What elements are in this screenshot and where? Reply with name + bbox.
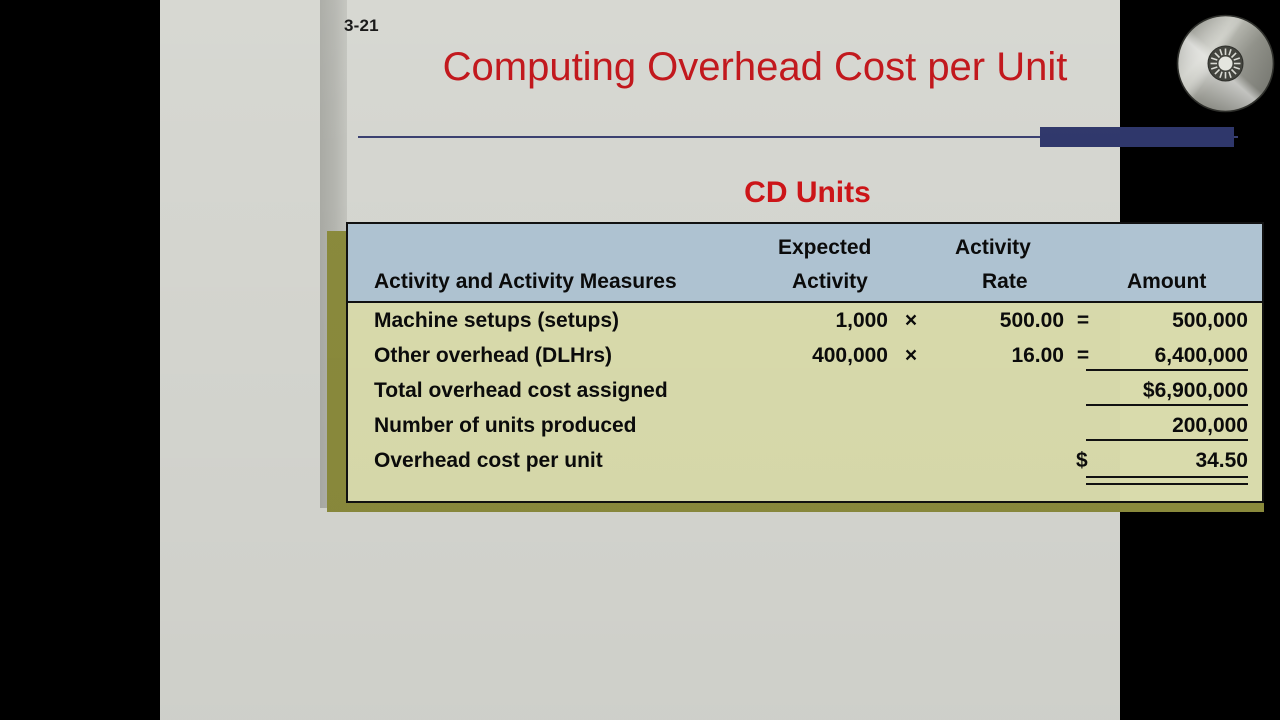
slide-stage: 3-21 Computing Overhead Cost per Unit <box>0 0 1280 720</box>
compact-disc-icon <box>1176 14 1275 113</box>
section-subtitle: CD Units <box>350 176 1265 210</box>
column-header-activity-measures: Activity and Activity Measures <box>374 270 677 294</box>
column-header-rate-line2: Rate <box>982 270 1028 294</box>
row-activity-rate: 16.00 <box>934 344 1064 368</box>
table-header-row: Activity and Activity Measures Expected … <box>348 224 1262 303</box>
subtotal-rule <box>1086 369 1248 371</box>
currency-symbol: $ <box>1076 449 1088 473</box>
slide-canvas: 3-21 Computing Overhead Cost per Unit <box>160 0 1120 720</box>
final-double-rule <box>1086 476 1248 485</box>
multiply-operator-icon: × <box>900 309 922 333</box>
letterbox-left <box>0 0 160 720</box>
row-expected-activity: 1,000 <box>748 309 888 333</box>
overhead-cost-table: Activity and Activity Measures Expected … <box>346 222 1264 503</box>
units-underline-rule <box>1086 439 1248 441</box>
column-header-rate-line1: Activity <box>955 236 1031 260</box>
row-expected-activity: 400,000 <box>748 344 888 368</box>
row-label-overhead-per-unit: Overhead cost per unit <box>374 449 603 473</box>
row-amount-units: 200,000 <box>1076 414 1248 438</box>
row-label-other-overhead: Other overhead (DLHrs) <box>374 344 612 368</box>
per-unit-value: 34.50 <box>1195 449 1248 473</box>
table-row: Overhead cost per unit $ 34.50 <box>348 445 1262 480</box>
multiply-operator-icon: × <box>900 344 922 368</box>
table-row: Machine setups (setups) 1,000 × 500.00 =… <box>348 305 1262 340</box>
slide-number: 3-21 <box>344 16 379 36</box>
page-title: Computing Overhead Cost per Unit <box>360 43 1150 91</box>
column-header-expected-line2: Activity <box>792 270 868 294</box>
title-divider-block <box>1040 127 1234 147</box>
row-amount: 6,400,000 <box>1088 344 1248 368</box>
row-label-machine-setups: Machine setups (setups) <box>374 309 619 333</box>
row-label-total-overhead: Total overhead cost assigned <box>374 379 668 403</box>
column-header-amount: Amount <box>1127 270 1206 294</box>
total-underline-rule <box>1086 404 1248 406</box>
row-amount: 500,000 <box>1088 309 1248 333</box>
row-activity-rate: 500.00 <box>934 309 1064 333</box>
column-header-expected-line1: Expected <box>778 236 871 260</box>
row-amount-total: $6,900,000 <box>1076 379 1248 403</box>
row-amount-per-unit: $ 34.50 <box>1076 449 1248 473</box>
row-label-units-produced: Number of units produced <box>374 414 637 438</box>
table-body: Machine setups (setups) 1,000 × 500.00 =… <box>348 303 1262 501</box>
